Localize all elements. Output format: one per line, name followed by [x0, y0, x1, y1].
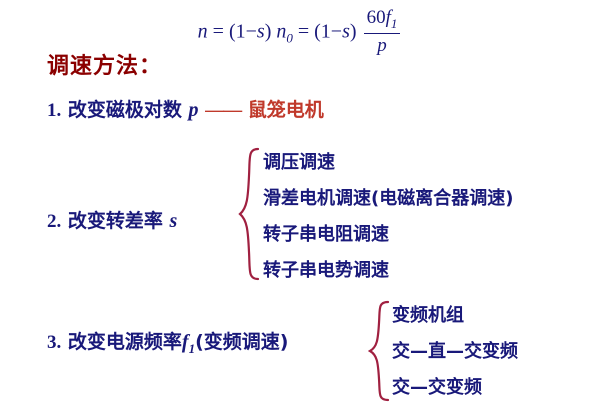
brace-item-2 [238, 146, 260, 282]
fraction-num-const: 60 [367, 7, 386, 28]
brace-item-3 [368, 299, 390, 403]
item-1-dash: —— [205, 100, 241, 121]
sublist-2-entry-3: 转子串电阻调速 [263, 220, 513, 250]
formula-close1: ) [265, 21, 272, 43]
formula-s1: s [257, 21, 265, 43]
list-item-2: 2. 改变转差率 s [47, 206, 177, 233]
sublist-item-2: 调压调速 滑差电机调速(电磁离合器调速) 转子串电阻调速 转子串电势调速 [263, 148, 513, 292]
item-2-var: s [170, 210, 178, 232]
list-item-3: 3. 改变电源频率f1(变频调速) [47, 327, 288, 357]
fraction-numerator: 60f1 [364, 7, 401, 34]
item-3-index: 3. [47, 332, 61, 353]
item-3-text: 改变电源频率 [68, 331, 182, 353]
item-1-index: 1. [47, 100, 61, 121]
item-2-index: 2. [47, 211, 61, 232]
formula-eq1: = [213, 21, 224, 43]
formula-fraction: 60f1 p [364, 7, 401, 57]
formula-n0-sub: 0 [286, 31, 293, 46]
formula-eq2: = [298, 21, 309, 43]
fraction-num-sub: 1 [391, 16, 398, 31]
formula-close2: ) [350, 21, 357, 43]
item-1-text: 改变磁极对数 [68, 99, 182, 121]
fraction-denominator: p [364, 34, 401, 57]
sublist-3-entry-2: 交—直—交变频 [392, 337, 518, 367]
list-item-1: 1. 改变磁极对数 p —— 鼠笼电机 [47, 95, 324, 122]
item-3-var: f [182, 331, 189, 353]
item-1-var: p [189, 99, 199, 121]
sublist-2-entry-1: 调压调速 [263, 148, 513, 178]
section-title: 调速方法： [47, 48, 162, 80]
item-3-suffix: (变频调速) [195, 331, 288, 353]
item-2-text: 改变转差率 [68, 210, 163, 232]
sublist-2-entry-2: 滑差电机调速(电磁离合器调速) [263, 184, 513, 214]
sublist-3-entry-1: 变频机组 [392, 301, 518, 331]
sublist-2-entry-4: 转子串电势调速 [263, 256, 513, 286]
formula-s2: s [342, 21, 350, 43]
sublist-item-3: 变频机组 交—直—交变频 交—交变频 [392, 301, 518, 409]
sublist-3-entry-3: 交—交变频 [392, 373, 518, 403]
formula-lhs: n [198, 21, 208, 43]
formula-term1: (1− [229, 21, 257, 43]
formula-term2: (1− [314, 21, 342, 43]
slide-canvas: n = (1−s) n0 = (1−s) 60f1 p 调速方法： 1. 改变磁… [0, 0, 600, 412]
item-1-red-label: 鼠笼电机 [248, 99, 324, 121]
formula-n0-var: n [276, 21, 286, 43]
